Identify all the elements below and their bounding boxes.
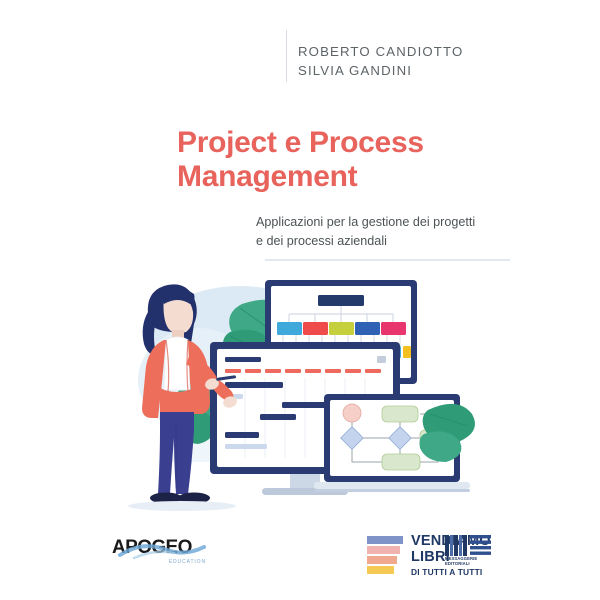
messaggerie-editoriali-caption: MESSAGGERIE EDITORIALI xyxy=(445,556,477,566)
author-name-1: ROBERTO CANDIOTTO xyxy=(298,42,558,61)
gantt-title-bar xyxy=(225,357,261,362)
vendiamo-bar-3 xyxy=(367,556,397,564)
cover-illustration xyxy=(90,262,520,522)
author-block: ROBERTO CANDIOTTO SILVIA GANDINI xyxy=(298,42,558,80)
publisher-logo-apogeo: APOGEO EDUCATION xyxy=(112,538,208,572)
apogeo-tagline: EDUCATION xyxy=(112,559,208,565)
subtitle-divider-line xyxy=(265,259,510,261)
author-divider-line xyxy=(286,30,287,82)
vendiamo-bar-4 xyxy=(367,566,394,574)
me-caption-line-2: EDITORIALI xyxy=(445,561,477,566)
apogeo-wordmark: APOGEO xyxy=(112,538,208,558)
title-line-1: Project e Process xyxy=(177,126,577,160)
vendiamo-tagline: DI TUTTI A TUTTI xyxy=(411,567,482,577)
author-name-2: SILVIA GANDINI xyxy=(298,61,558,80)
book-cover: ROBERTO CANDIOTTO SILVIA GANDINI Project… xyxy=(0,0,600,600)
vendiamo-bar-2 xyxy=(367,546,400,554)
title-line-2: Management xyxy=(177,160,577,194)
retailer-logo-vendiamo-libri: VENDIAMO LIBRI MESSAGGERIE EDITORIALI DI… xyxy=(367,534,492,580)
wbs-root-node xyxy=(318,295,364,306)
monitor-front-base xyxy=(314,482,470,489)
subtitle-block: Applicazioni per la gestione dei progett… xyxy=(256,213,556,250)
vendiamo-bar-1 xyxy=(367,536,403,544)
gantt-toolbar-icon xyxy=(377,356,386,363)
vendiamo-color-bars xyxy=(367,536,405,576)
page-title: Project e Process Management xyxy=(177,126,577,194)
subtitle-line-1: Applicazioni per la gestione dei progett… xyxy=(256,213,556,232)
figure-floor-shadow xyxy=(128,501,236,511)
monitor-front-base-shadow xyxy=(314,489,470,492)
wbs-level2-nodes xyxy=(277,322,406,335)
subtitle-line-2: e dei processi aziendali xyxy=(256,232,556,251)
leaf-decoration-right xyxy=(420,404,475,462)
